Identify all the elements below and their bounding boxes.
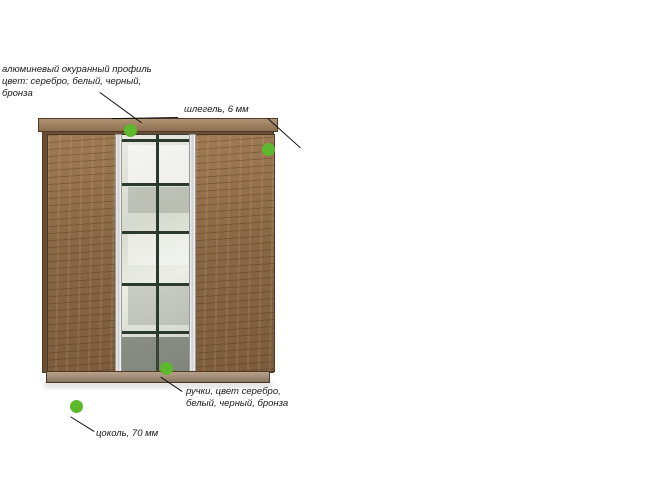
infographic-page: алюминевый окуранный профиль цвет: сереб… (0, 0, 652, 500)
callout-plinth-label: цоколь, 70 мм (96, 428, 216, 440)
wardrobe-door-right (195, 134, 275, 372)
wardrobe-body (42, 131, 274, 373)
wardrobe-handle-left (115, 134, 122, 372)
wardrobe-top-panel (38, 118, 278, 132)
callout-shlegel-label: шлегель, 6 мм (184, 104, 304, 116)
callout-plinth-dot (70, 400, 83, 413)
features-panel: Шлегель Клеится в паз ручки; Обеспечиваю… (330, 0, 652, 500)
callout-handles-dot (160, 362, 173, 375)
wardrobe-drawing (38, 118, 278, 388)
wardrobe-door-left (47, 134, 123, 372)
callout-shlegel-dot (262, 143, 275, 156)
wardrobe-illustration-panel: алюминевый окуранный профиль цвет: сереб… (0, 0, 330, 500)
callout-plinth-leader (70, 416, 94, 432)
wardrobe-door-mirror (121, 134, 199, 372)
callout-handles-label: ручки, цвет серебро, белый, черный, брон… (186, 386, 311, 410)
wardrobe-handle-right (189, 134, 196, 372)
callout-aluminium-profile-dot (124, 124, 137, 137)
callout-aluminium-profile-label: алюминевый окуранный профиль цвет: сереб… (2, 64, 167, 100)
